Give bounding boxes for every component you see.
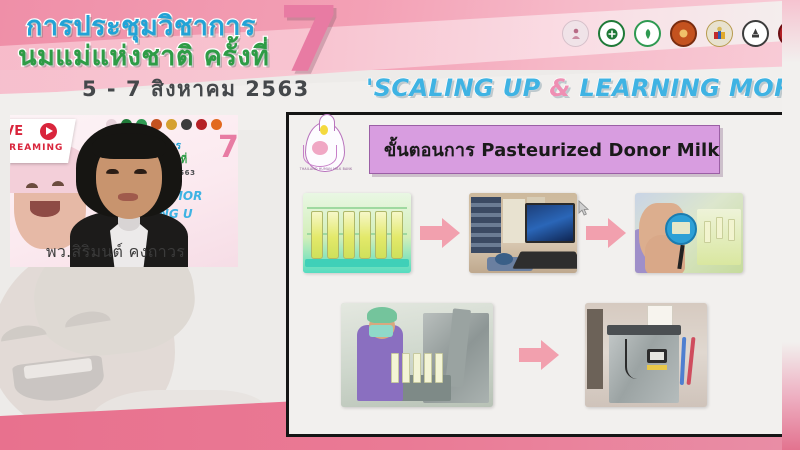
live-streaming-badge: VE TREAMING <box>10 119 76 163</box>
arrow-right-3 <box>519 340 559 370</box>
photo-laptop-workstation <box>469 193 577 273</box>
arrow-right-1 <box>420 218 460 248</box>
tagline-prefix: 'SCALING UP <box>366 74 549 102</box>
tagline-suffix: LEARNING MORE' <box>571 74 800 102</box>
arrow-right-2 <box>586 218 626 248</box>
speaker-name-caption: พว.สิริมนต์ คงถาวร <box>46 240 185 265</box>
slide-title: ขั้นตอนการ Pasteurized Donor Milk <box>384 135 719 164</box>
right-edge-band <box>782 0 800 450</box>
photo-stainless-freezer-unit <box>585 303 707 407</box>
photo-nurse-loading-pasteurizer <box>341 303 493 407</box>
slide-title-bar: ขั้นตอนการ Pasteurized Donor Milk <box>369 125 720 174</box>
process-row-2 <box>341 303 707 407</box>
presentation-slide-panel: THAILAND HUMAN MILK BANK ขั้นตอนการ Past… <box>286 112 787 437</box>
tagline-ampersand: & <box>549 74 570 102</box>
human-milk-bank-logo: THAILAND HUMAN MILK BANK <box>296 119 354 179</box>
poster-edition-number: 7 <box>218 133 238 163</box>
multicolor-emblem-logo <box>706 20 733 47</box>
live-label: VE <box>10 124 23 139</box>
orange-emblem-logo <box>670 20 697 47</box>
conference-tagline: 'SCALING UP & LEARNING MORE' <box>366 74 800 102</box>
process-row-1 <box>303 193 743 273</box>
photo-handheld-timer <box>635 193 743 273</box>
mouse-cursor <box>578 200 590 217</box>
slide-screenshot: การประชุมวิชาการ นมแม่แห่งชาติ ครั้งที่ … <box>0 0 800 450</box>
conference-date: 5 - 7 สิงหาคม 2563 <box>82 73 310 106</box>
logo-caption: THAILAND HUMAN MILK BANK <box>297 167 355 171</box>
conference-edition-number: 7 <box>278 0 339 86</box>
green-cross-logo <box>634 20 661 47</box>
organization-logo-strip: สสส <box>562 20 800 47</box>
conference-title-line2: นมแม่แห่งชาติ ครั้งที่ <box>18 34 269 77</box>
black-circle-logo <box>742 20 769 47</box>
play-icon <box>40 123 57 140</box>
green-circle-logo <box>598 20 625 47</box>
royal-thai-seal-logo <box>562 20 589 47</box>
photo-milk-bottle-racks <box>303 193 411 273</box>
streaming-label: TREAMING <box>10 143 63 153</box>
